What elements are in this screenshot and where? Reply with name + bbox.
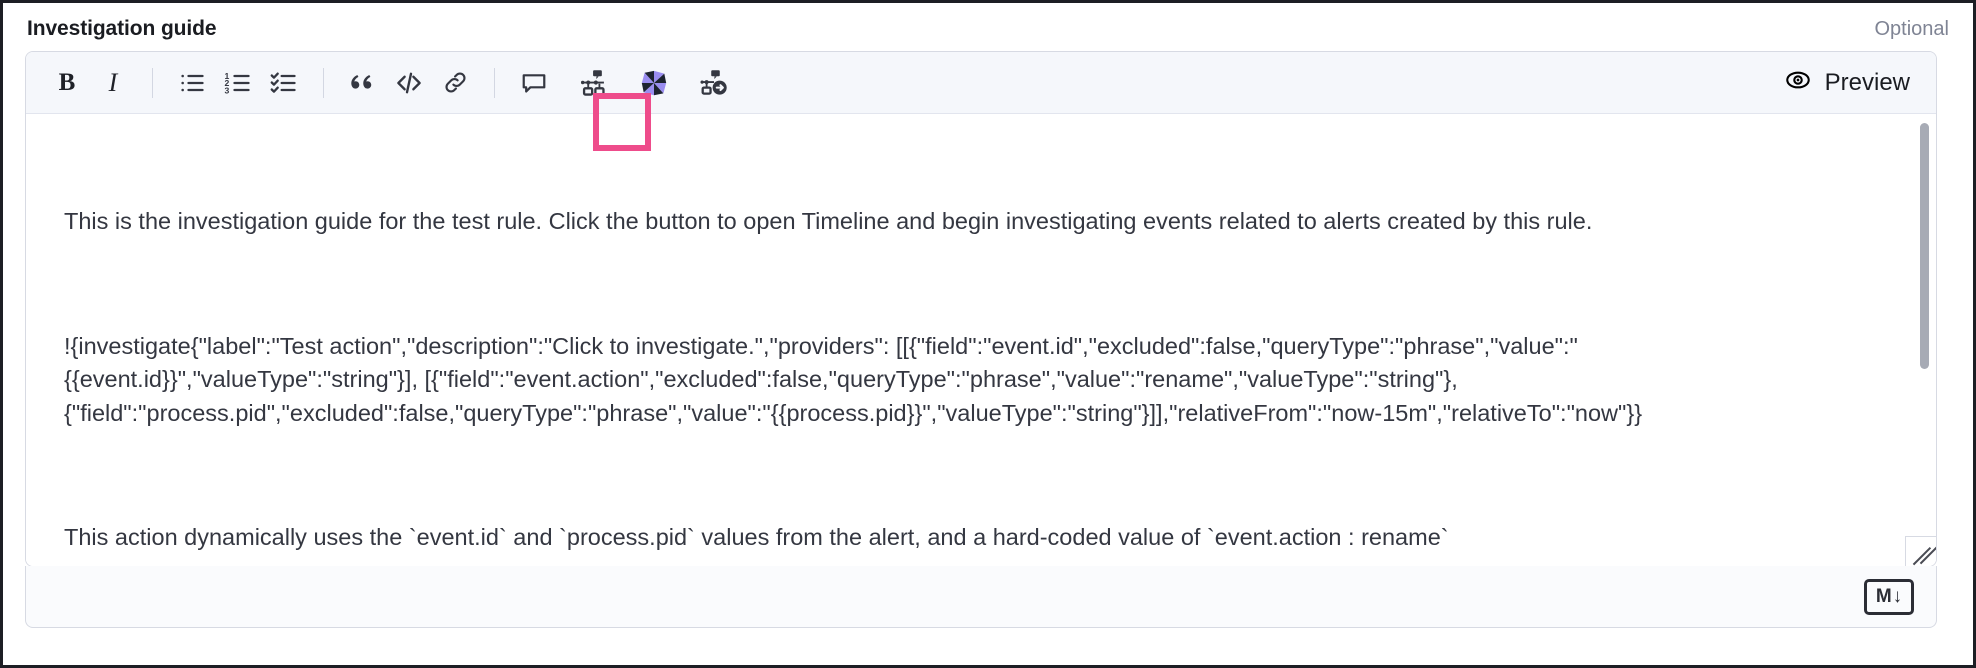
page-title: Investigation guide [27, 17, 216, 41]
field-header: Investigation guide Optional [3, 3, 1973, 55]
quote-icon [349, 68, 378, 97]
insert-osquery-button[interactable] [631, 60, 677, 106]
toolbar-divider [494, 68, 495, 98]
bold-label: B [59, 70, 76, 95]
code-button[interactable] [386, 60, 432, 106]
timeline-icon [579, 68, 609, 98]
scrollbar-thumb[interactable] [1920, 123, 1929, 369]
osquery-icon [639, 68, 669, 98]
preview-label: Preview [1825, 69, 1910, 97]
markdown-help-badge[interactable]: M ↓ [1864, 579, 1914, 615]
guide-paragraph-intro: This is the investigation guide for the … [64, 205, 1880, 239]
quote-button[interactable] [340, 60, 386, 106]
insert-timeline-button[interactable] [571, 60, 617, 106]
markdown-badge-letter: M [1876, 587, 1892, 606]
markdown-textarea[interactable]: This is the investigation guide for the … [26, 114, 1936, 567]
task-list-icon [270, 69, 298, 97]
unordered-list-button[interactable] [169, 60, 215, 106]
guide-paragraph-investigate-syntax: !{investigate{"label":"Test action","des… [64, 330, 1880, 431]
insert-comment-button[interactable] [511, 60, 557, 106]
bold-button[interactable]: B [44, 60, 90, 106]
numbered-list-icon: 1 2 3 [224, 69, 252, 97]
markdown-badge-arrow: ↓ [1893, 587, 1903, 606]
svg-text:3: 3 [224, 85, 229, 95]
textarea-scrollbar[interactable] [1920, 123, 1929, 553]
editor-footer: M ↓ [25, 566, 1937, 628]
link-icon [442, 69, 469, 96]
task-list-button[interactable] [261, 60, 307, 106]
investigation-guide-field: Investigation guide Optional B I [0, 0, 1976, 668]
code-icon [394, 68, 424, 98]
ordered-list-button[interactable]: 1 2 3 [215, 60, 261, 106]
timeline-action-icon [699, 68, 729, 98]
italic-button[interactable]: I [90, 60, 136, 106]
bullet-list-icon [178, 69, 206, 97]
guide-paragraph-explanation: This action dynamically uses the `event.… [64, 521, 1880, 555]
link-button[interactable] [432, 60, 478, 106]
comment-icon [520, 69, 548, 97]
markdown-editor: B I [25, 51, 1937, 567]
italic-label: I [109, 70, 118, 96]
markdown-text-content[interactable]: This is the investigation guide for the … [26, 114, 1936, 567]
preview-button[interactable]: Preview [1774, 60, 1922, 105]
eye-icon [1784, 66, 1812, 99]
insert-investigate-button[interactable] [691, 60, 737, 106]
toolbar-divider [323, 68, 324, 98]
editor-toolbar: B I [26, 52, 1936, 114]
textarea-resize-handle[interactable] [1905, 536, 1936, 567]
toolbar-divider [152, 68, 153, 98]
optional-label: Optional [1875, 18, 1950, 41]
